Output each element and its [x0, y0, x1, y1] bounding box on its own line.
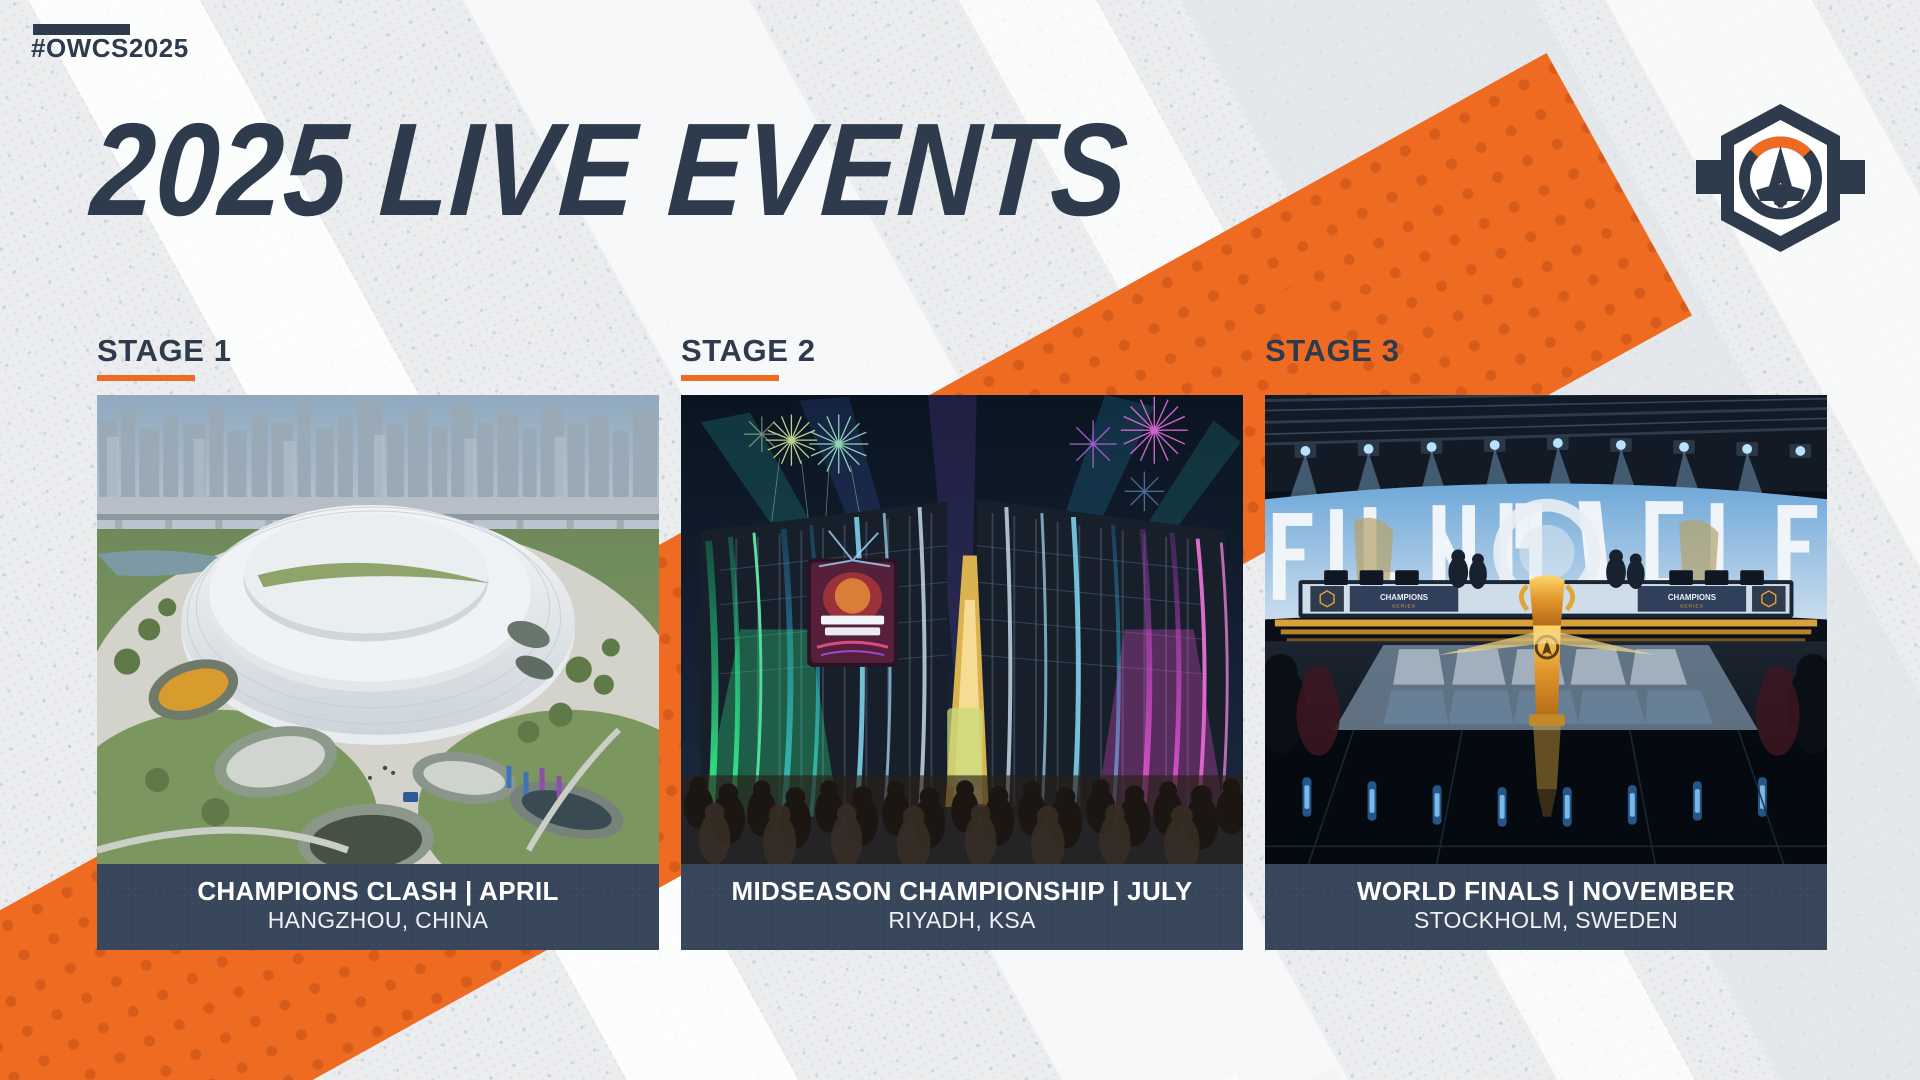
hashtag-label: #OWCS2025: [31, 33, 189, 64]
stages-row: STAGE 1: [97, 335, 1827, 950]
svg-text:R: R: [1815, 224, 1819, 230]
stage-photo-2: [681, 395, 1243, 864]
page-title: 2025 LIVE EVENTS: [88, 104, 1132, 236]
svg-text:CHAMPIONS: CHAMPIONS: [1380, 593, 1428, 602]
overwatch-champions-series-logo-icon: R: [1688, 98, 1873, 258]
stage-caption-3: WORLD FINALS | NOVEMBER STOCKHOLM, SWEDE…: [1265, 864, 1827, 950]
stage-accent-rule-3: [1265, 375, 1363, 381]
event-location-3: STOCKHOLM, SWEDEN: [1273, 907, 1819, 935]
svg-text:SERIES: SERIES: [1392, 604, 1416, 610]
event-title-3: WORLD FINALS | NOVEMBER: [1273, 877, 1819, 906]
event-title-2: MIDSEASON CHAMPIONSHIP | JULY: [689, 877, 1235, 906]
event-title-1: CHAMPIONS CLASH | APRIL: [105, 877, 651, 906]
stage-photo-1: [97, 395, 659, 864]
stage-card-1[interactable]: STAGE 1: [97, 335, 659, 950]
stage-label-3: STAGE 3: [1265, 335, 1827, 366]
stage-caption-1: CHAMPIONS CLASH | APRIL HANGZHOU, CHINA: [97, 864, 659, 950]
event-location-1: HANGZHOU, CHINA: [105, 907, 651, 935]
stage-caption-2: MIDSEASON CHAMPIONSHIP | JULY RIYADH, KS…: [681, 864, 1243, 950]
stage-label-1: STAGE 1: [97, 335, 659, 366]
svg-text:CHAMPIONS: CHAMPIONS: [1668, 593, 1716, 602]
stage-accent-rule-1: [97, 375, 195, 381]
stage-label-2: STAGE 2: [681, 335, 1243, 366]
svg-text:SERIES: SERIES: [1680, 604, 1704, 610]
stage-card-2[interactable]: STAGE 2: [681, 335, 1243, 950]
event-location-2: RIYADH, KSA: [689, 907, 1235, 935]
stage-card-3[interactable]: STAGE 3: [1265, 335, 1827, 950]
stage-photo-3: CHAMPIONS CHAMPIONS SERIES SERIES: [1265, 395, 1827, 864]
stage-accent-rule-2: [681, 375, 779, 381]
